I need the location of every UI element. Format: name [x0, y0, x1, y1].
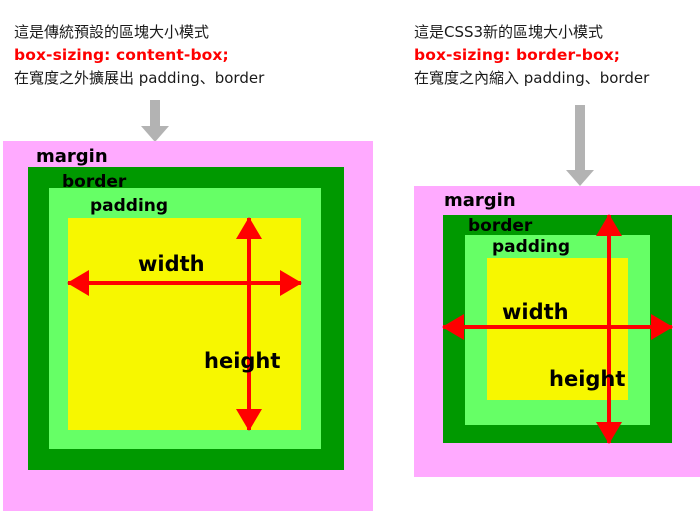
right-padding-label: padding [492, 238, 570, 256]
left-heading-code: box-sizing: content-box; [14, 44, 264, 67]
right-heading-line-1: 這是CSS3新的區塊大小模式 [414, 21, 649, 44]
left-border-label: border [62, 173, 126, 191]
arrow-head [566, 170, 594, 186]
left-panel-heading: 這是傳統預設的區塊大小模式 box-sizing: content-box; 在… [14, 21, 264, 90]
right-border-label: border [468, 217, 532, 235]
arrow-shaft [150, 100, 160, 127]
box-sizing-comparison-diagram: 這是傳統預設的區塊大小模式 box-sizing: content-box; 在… [0, 0, 700, 514]
arrow-shaft [443, 325, 672, 329]
arrow-head-right [280, 270, 302, 296]
arrow-head-bottom [596, 422, 622, 444]
left-heading-line-3: 在寬度之外擴展出 padding、border [14, 67, 264, 90]
arrow-shaft [575, 105, 585, 171]
arrow-head-top [236, 217, 262, 239]
right-heading-code: box-sizing: border-box; [414, 44, 649, 67]
arrow-head-top [596, 214, 622, 236]
left-margin-label: margin [36, 148, 108, 166]
left-width-label: width [138, 255, 205, 273]
left-heading-line-1: 這是傳統預設的區塊大小模式 [14, 21, 264, 44]
left-height-label: height [204, 352, 280, 370]
arrow-head-left [442, 314, 464, 340]
right-width-label: width [502, 303, 569, 321]
left-padding-label: padding [90, 197, 168, 215]
down-arrow-icon [566, 105, 594, 186]
left-content-area [68, 218, 301, 430]
right-panel-heading: 這是CSS3新的區塊大小模式 box-sizing: border-box; 在… [414, 21, 649, 90]
right-margin-label: margin [444, 192, 516, 210]
down-arrow-icon [141, 100, 169, 142]
arrow-head-bottom [236, 409, 262, 431]
right-heading-line-3: 在寬度之內縮入 padding、border [414, 67, 649, 90]
right-height-label: height [549, 370, 625, 388]
arrow-head-left [67, 270, 89, 296]
arrow-shaft [68, 281, 301, 285]
arrow-head [141, 126, 169, 142]
arrow-head-right [651, 314, 673, 340]
arrow-shaft [247, 218, 251, 430]
arrow-shaft [607, 215, 611, 443]
